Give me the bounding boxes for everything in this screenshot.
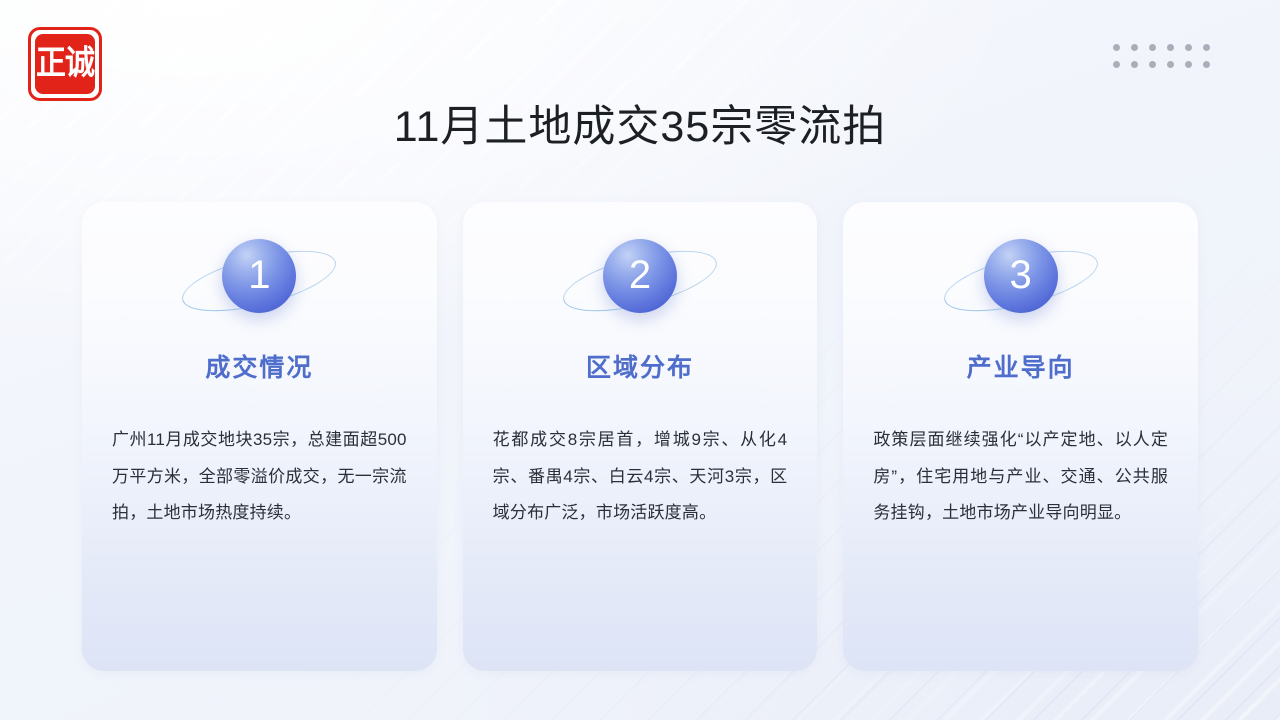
brand-logo: 正诚	[28, 27, 102, 101]
dot-icon	[1167, 44, 1174, 51]
planet-badge-3: 3	[941, 226, 1101, 326]
dot-icon	[1185, 44, 1192, 51]
brand-logo-text: 正诚	[36, 47, 94, 81]
card-number: 3	[1010, 255, 1032, 295]
dot-icon	[1203, 44, 1210, 51]
card-body-text: 广州11月成交地块35宗，总建面超500万平方米，全部零溢价成交，无一宗流拍，土…	[112, 422, 407, 532]
card-row: 1 成交情况 广州11月成交地块35宗，总建面超500万平方米，全部零溢价成交，…	[82, 202, 1198, 671]
dot-icon	[1131, 44, 1138, 51]
planet-badge-2: 2	[560, 226, 720, 326]
dot-icon	[1149, 44, 1156, 51]
page-title: 11月土地成交35宗零流拍	[0, 92, 1280, 154]
card-heading: 成交情况	[82, 348, 437, 384]
dot-icon	[1149, 61, 1156, 68]
dot-icon	[1113, 44, 1120, 51]
card-heading: 区域分布	[463, 348, 818, 384]
dot-icon	[1113, 61, 1120, 68]
dot-icon	[1203, 61, 1210, 68]
dot-icon	[1167, 61, 1174, 68]
info-card-3[interactable]: 3 产业导向 政策层面继续强化“以产定地、以人定房”，住宅用地与产业、交通、公共…	[843, 202, 1198, 671]
card-body-text: 花都成交8宗居首，增城9宗、从化4宗、番禺4宗、白云4宗、天河3宗，区域分布广泛…	[493, 422, 788, 532]
card-number: 2	[629, 255, 651, 295]
info-card-1[interactable]: 1 成交情况 广州11月成交地块35宗，总建面超500万平方米，全部零溢价成交，…	[82, 202, 437, 671]
planet-badge-1: 1	[179, 226, 339, 326]
slide-canvas: 正诚 11月土地成交35宗零流拍 1 成交情况 广州11月成交	[0, 0, 1280, 720]
decorative-dot-grid	[1113, 44, 1212, 70]
card-heading: 产业导向	[843, 348, 1198, 384]
card-body-text: 政策层面继续强化“以产定地、以人定房”，住宅用地与产业、交通、公共服务挂钩，土地…	[873, 422, 1168, 532]
dot-icon	[1131, 61, 1138, 68]
dot-icon	[1185, 61, 1192, 68]
brand-logo-plate: 正诚	[35, 34, 95, 94]
info-card-2[interactable]: 2 区域分布 花都成交8宗居首，增城9宗、从化4宗、番禺4宗、白云4宗、天河3宗…	[463, 202, 818, 671]
card-number: 1	[248, 255, 270, 295]
